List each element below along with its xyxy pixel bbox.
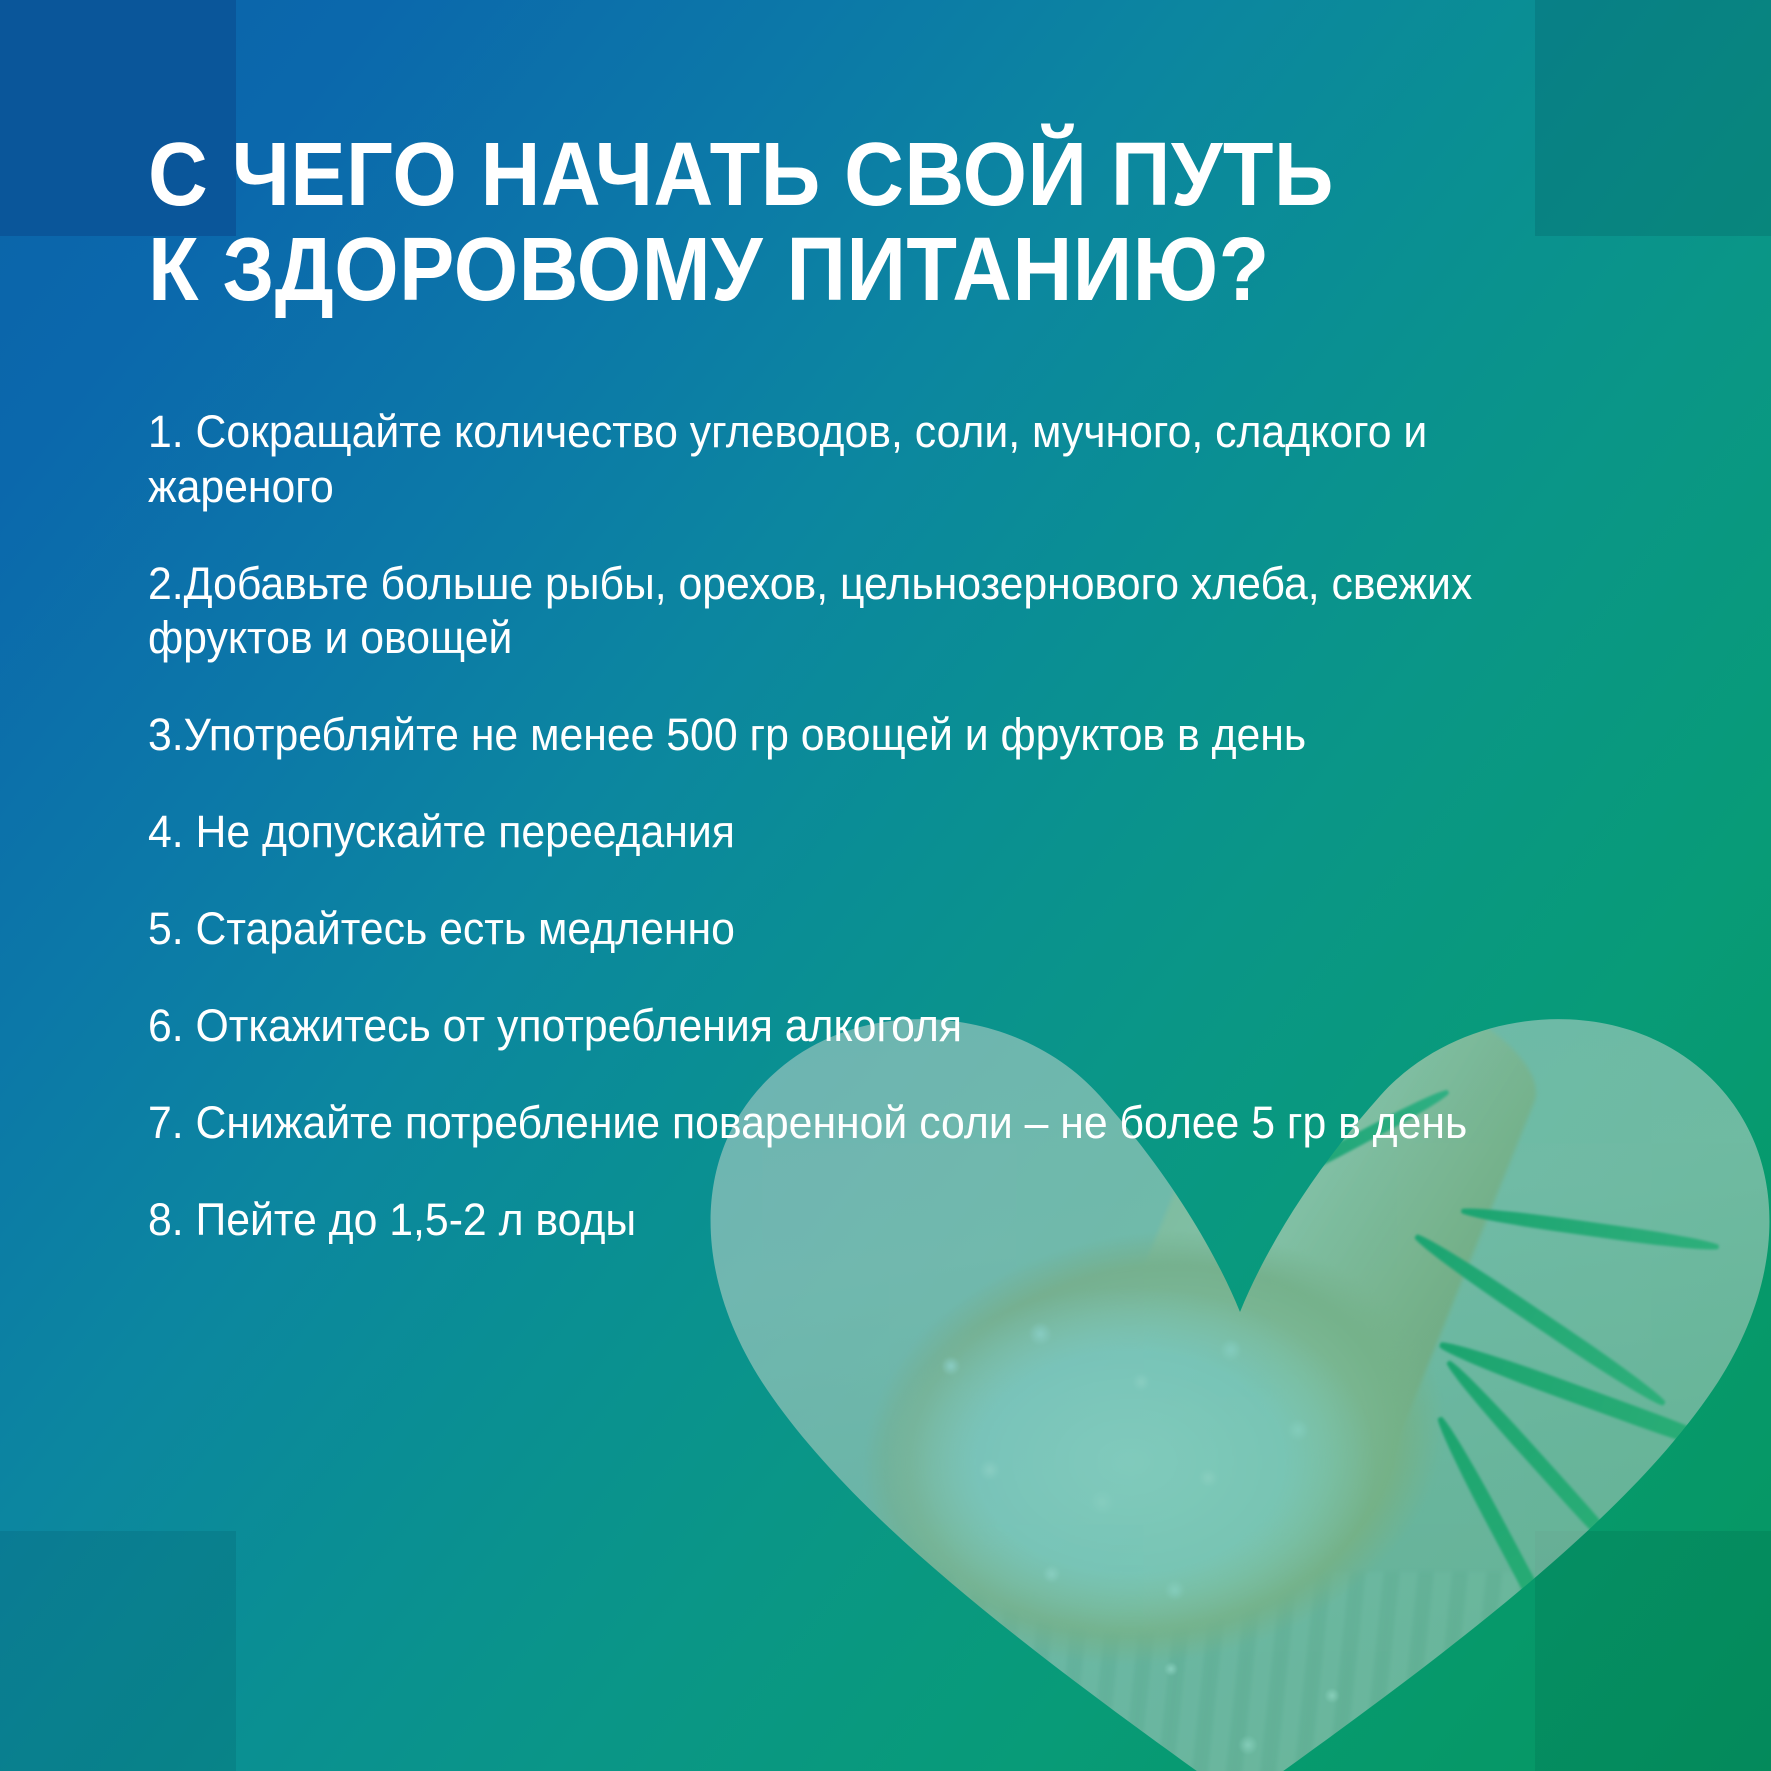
list-item: 7. Снижайте потребление поваренной соли … xyxy=(148,1096,1507,1151)
salt-crystals-in-spoon xyxy=(850,1262,1410,1662)
list-item: 5. Старайтесь есть медленно xyxy=(148,902,1440,957)
list-item: 6. Откажитесь от употребления алкоголя xyxy=(148,999,1440,1054)
list-item: 3.Употребляйте не менее 500 гр овощей и … xyxy=(148,708,1440,763)
list-item: 2.Добавьте больше рыбы, орехов, цельнозе… xyxy=(148,557,1507,667)
scattered-salt-crystals xyxy=(940,1612,1640,1771)
poster-content: С ЧЕГО НАЧАТЬ СВОЙ ПУТЬ К ЗДОРОВОМУ ПИТА… xyxy=(148,0,1628,1290)
list-item: 4. Не допускайте переедания xyxy=(148,805,1440,860)
list-item: 8. Пейте до 1,5-2 л воды xyxy=(148,1193,1440,1248)
list-item: 1. Сокращайте количество углеводов, соли… xyxy=(148,405,1507,515)
infographic-poster: С ЧЕГО НАЧАТЬ СВОЙ ПУТЬ К ЗДОРОВОМУ ПИТА… xyxy=(0,0,1771,1771)
corner-block-bottom-left xyxy=(0,1531,236,1771)
tips-list: 1. Сокращайте количество углеводов, соли… xyxy=(148,405,1628,1248)
page-title: С ЧЕГО НАЧАТЬ СВОЙ ПУТЬ К ЗДОРОВОМУ ПИТА… xyxy=(148,0,1510,319)
